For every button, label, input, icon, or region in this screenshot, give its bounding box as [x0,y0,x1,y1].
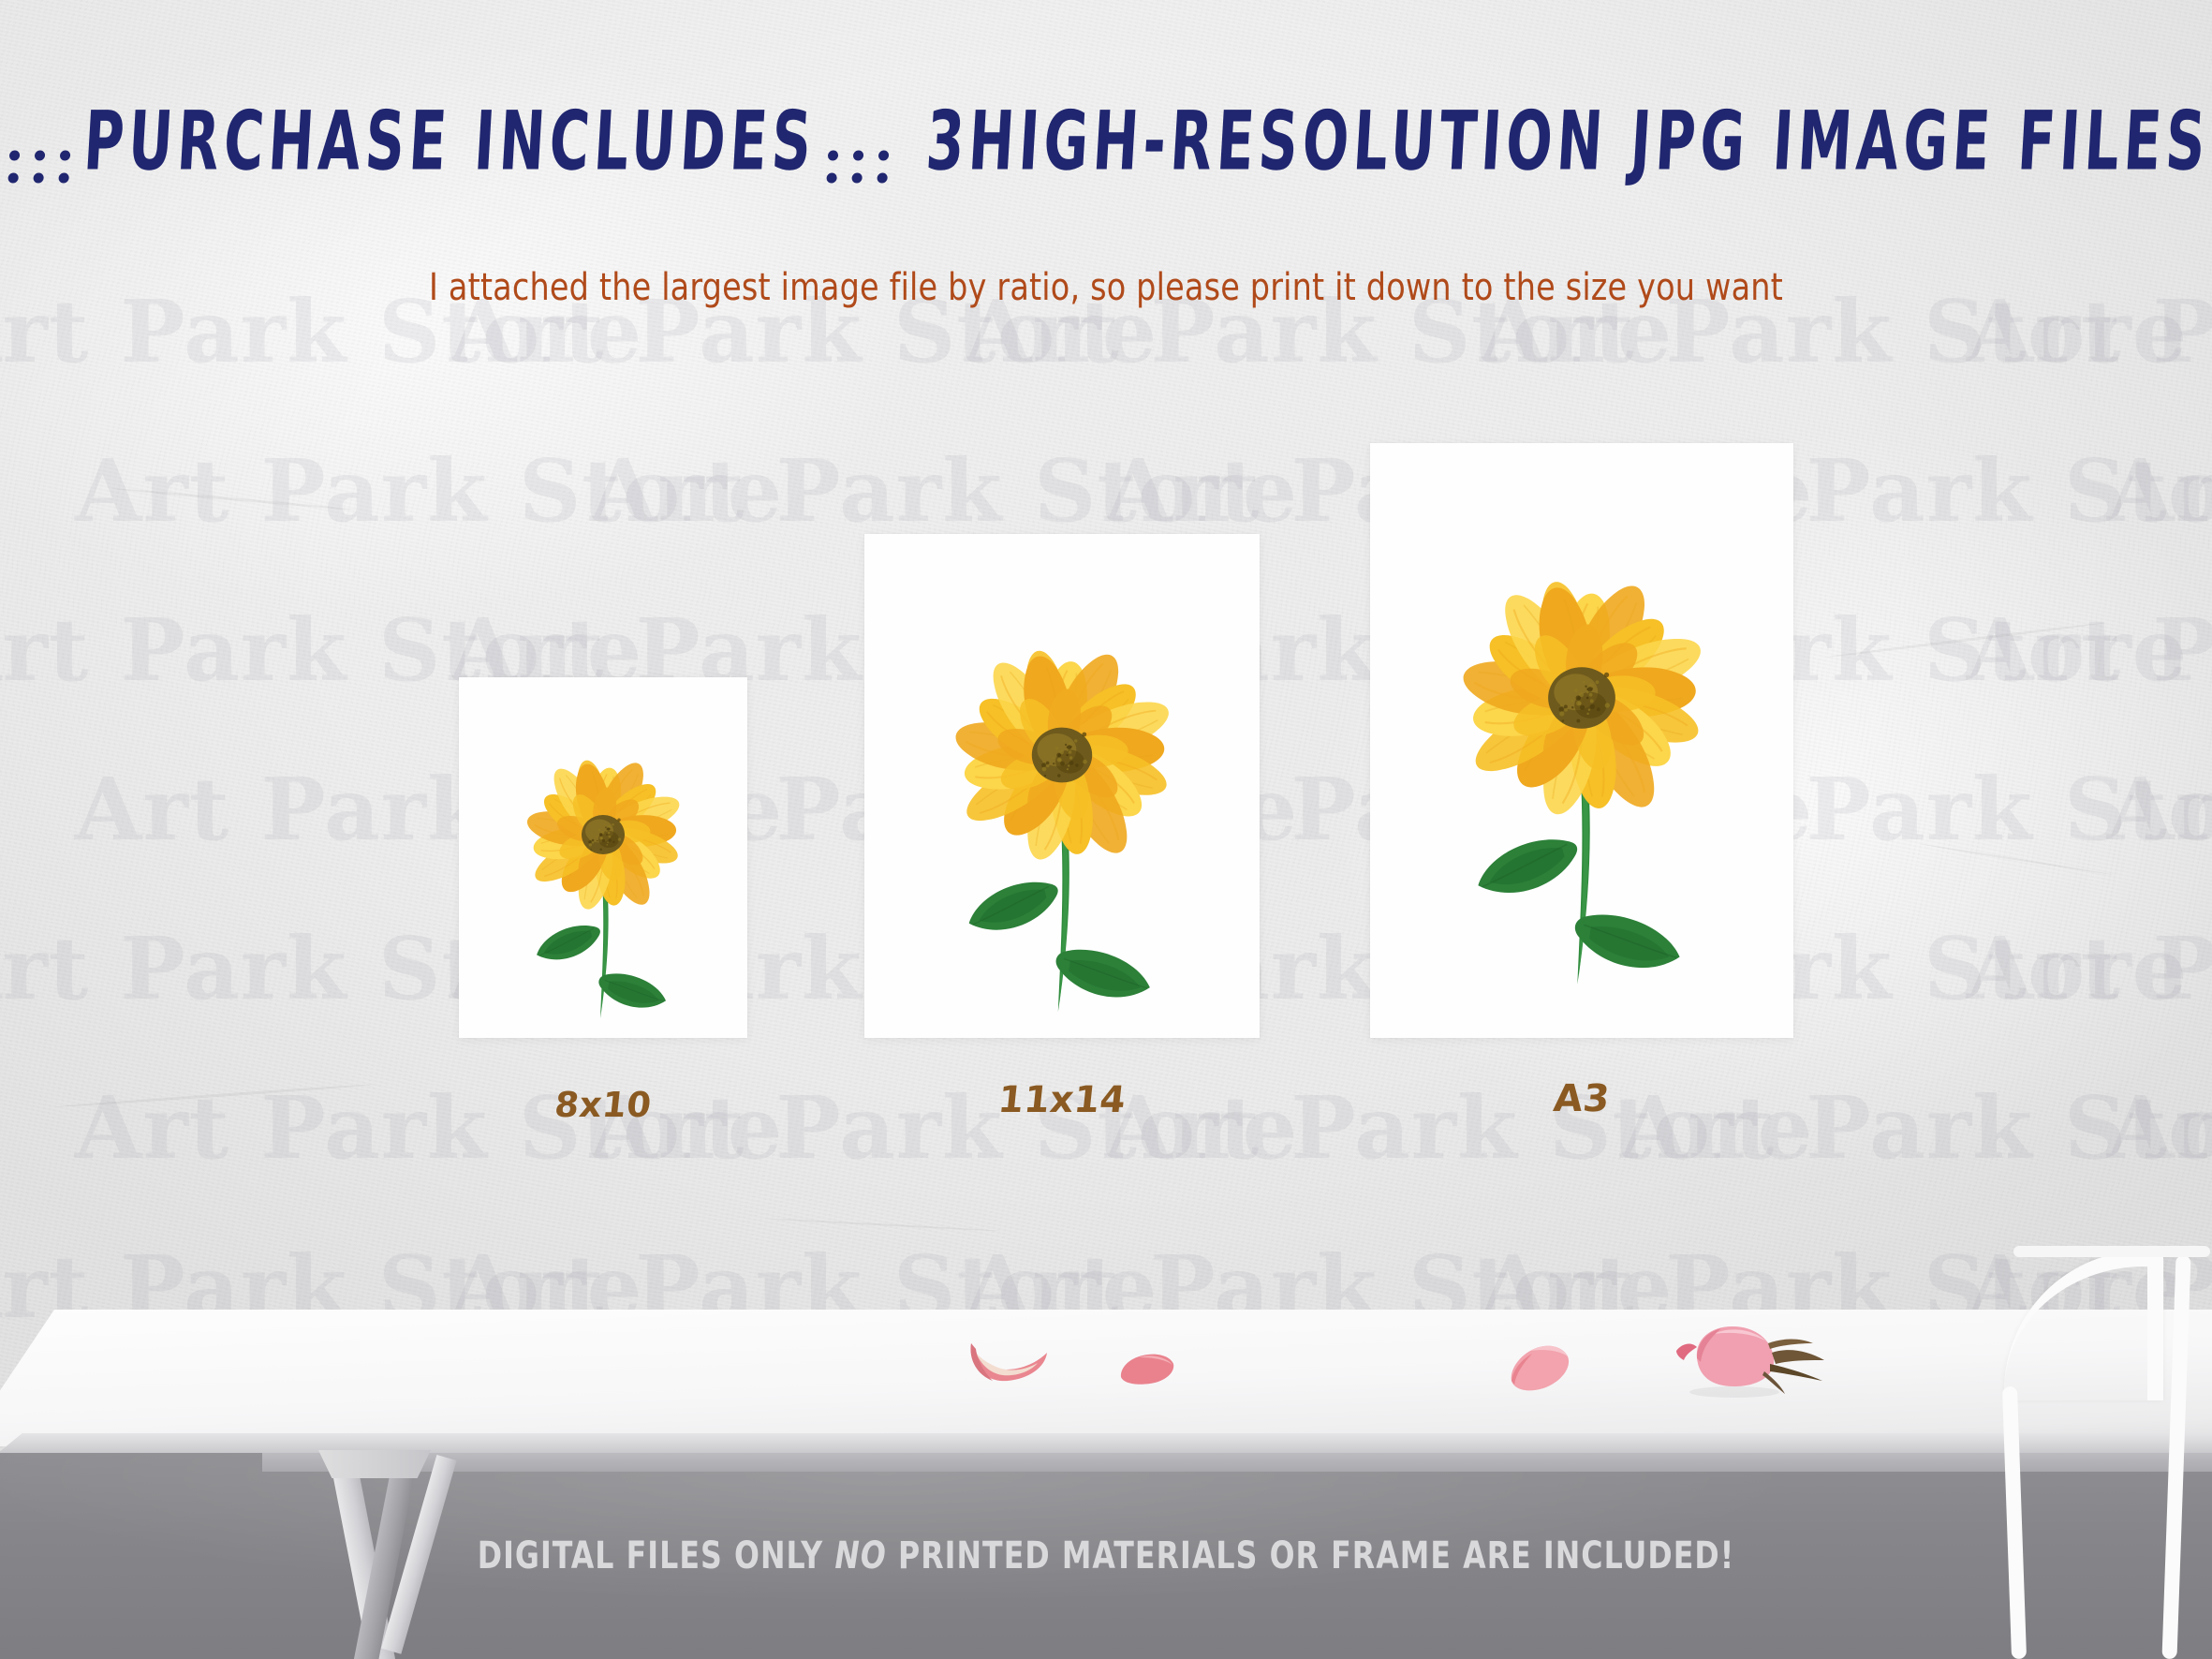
headline-prefix: PURCHASE INCLUDES [81,94,818,189]
disclaimer-part1: DIGITAL FILES ONLY [478,1534,835,1578]
size-label-11x14: 11x14 [863,1079,1262,1121]
chair-seat-rail [2013,1246,2210,1257]
table-surface [0,1310,2212,1446]
footer-disclaimer: DIGITAL FILES ONLY NO PRINTED MATERIALS … [133,1534,2080,1578]
page-subtitle: I attached the largest image file by rat… [78,266,2135,309]
dot-grid-icon-2 [826,110,892,183]
watermark-text: Art Park Store [2107,759,2212,860]
watermark-text: Art Park Store [1967,600,2212,701]
sunflower-artwork-medium [864,534,1260,1038]
poster-11x14[interactable] [864,534,1260,1038]
dot-grid-icon [7,110,73,183]
page-headline: PURCHASE INCLUDES 3HIGH-RESOLUTION JPG I… [0,92,2212,201]
size-label-8x10: 8x10 [457,1085,750,1125]
headline-suffix: 3HIGH-RESOLUTION JPG IMAGE FILES [923,94,2212,189]
disclaimer-emphasis: NO [834,1534,887,1578]
size-label-a3: A3 [1368,1077,1796,1120]
watermark-text: Art Park Store [1967,918,2212,1019]
poster-8x10[interactable] [459,677,747,1038]
table-apron [262,1453,2212,1472]
sunflower-artwork-large [1370,443,1793,1038]
disclaimer-part2: PRINTED MATERIALS OR FRAME ARE INCLUDED! [887,1534,1734,1578]
poster-a3[interactable] [1370,443,1793,1038]
rose-petal-small-right [1508,1340,1575,1394]
rose-petal-curled [965,1328,1049,1386]
watermark-text: Art Park Store [2107,440,2212,541]
product-listing-mockup: Art Park StoreArt Park StoreArt Park Sto… [0,0,2212,1659]
watermark-text: Art Park Store [2107,1077,2212,1178]
rose-bud [1641,1319,1839,1400]
table-leg-left-bracket [318,1450,431,1478]
rose-petal-small-left [1118,1349,1176,1386]
sunflower-artwork-small [459,677,747,1038]
